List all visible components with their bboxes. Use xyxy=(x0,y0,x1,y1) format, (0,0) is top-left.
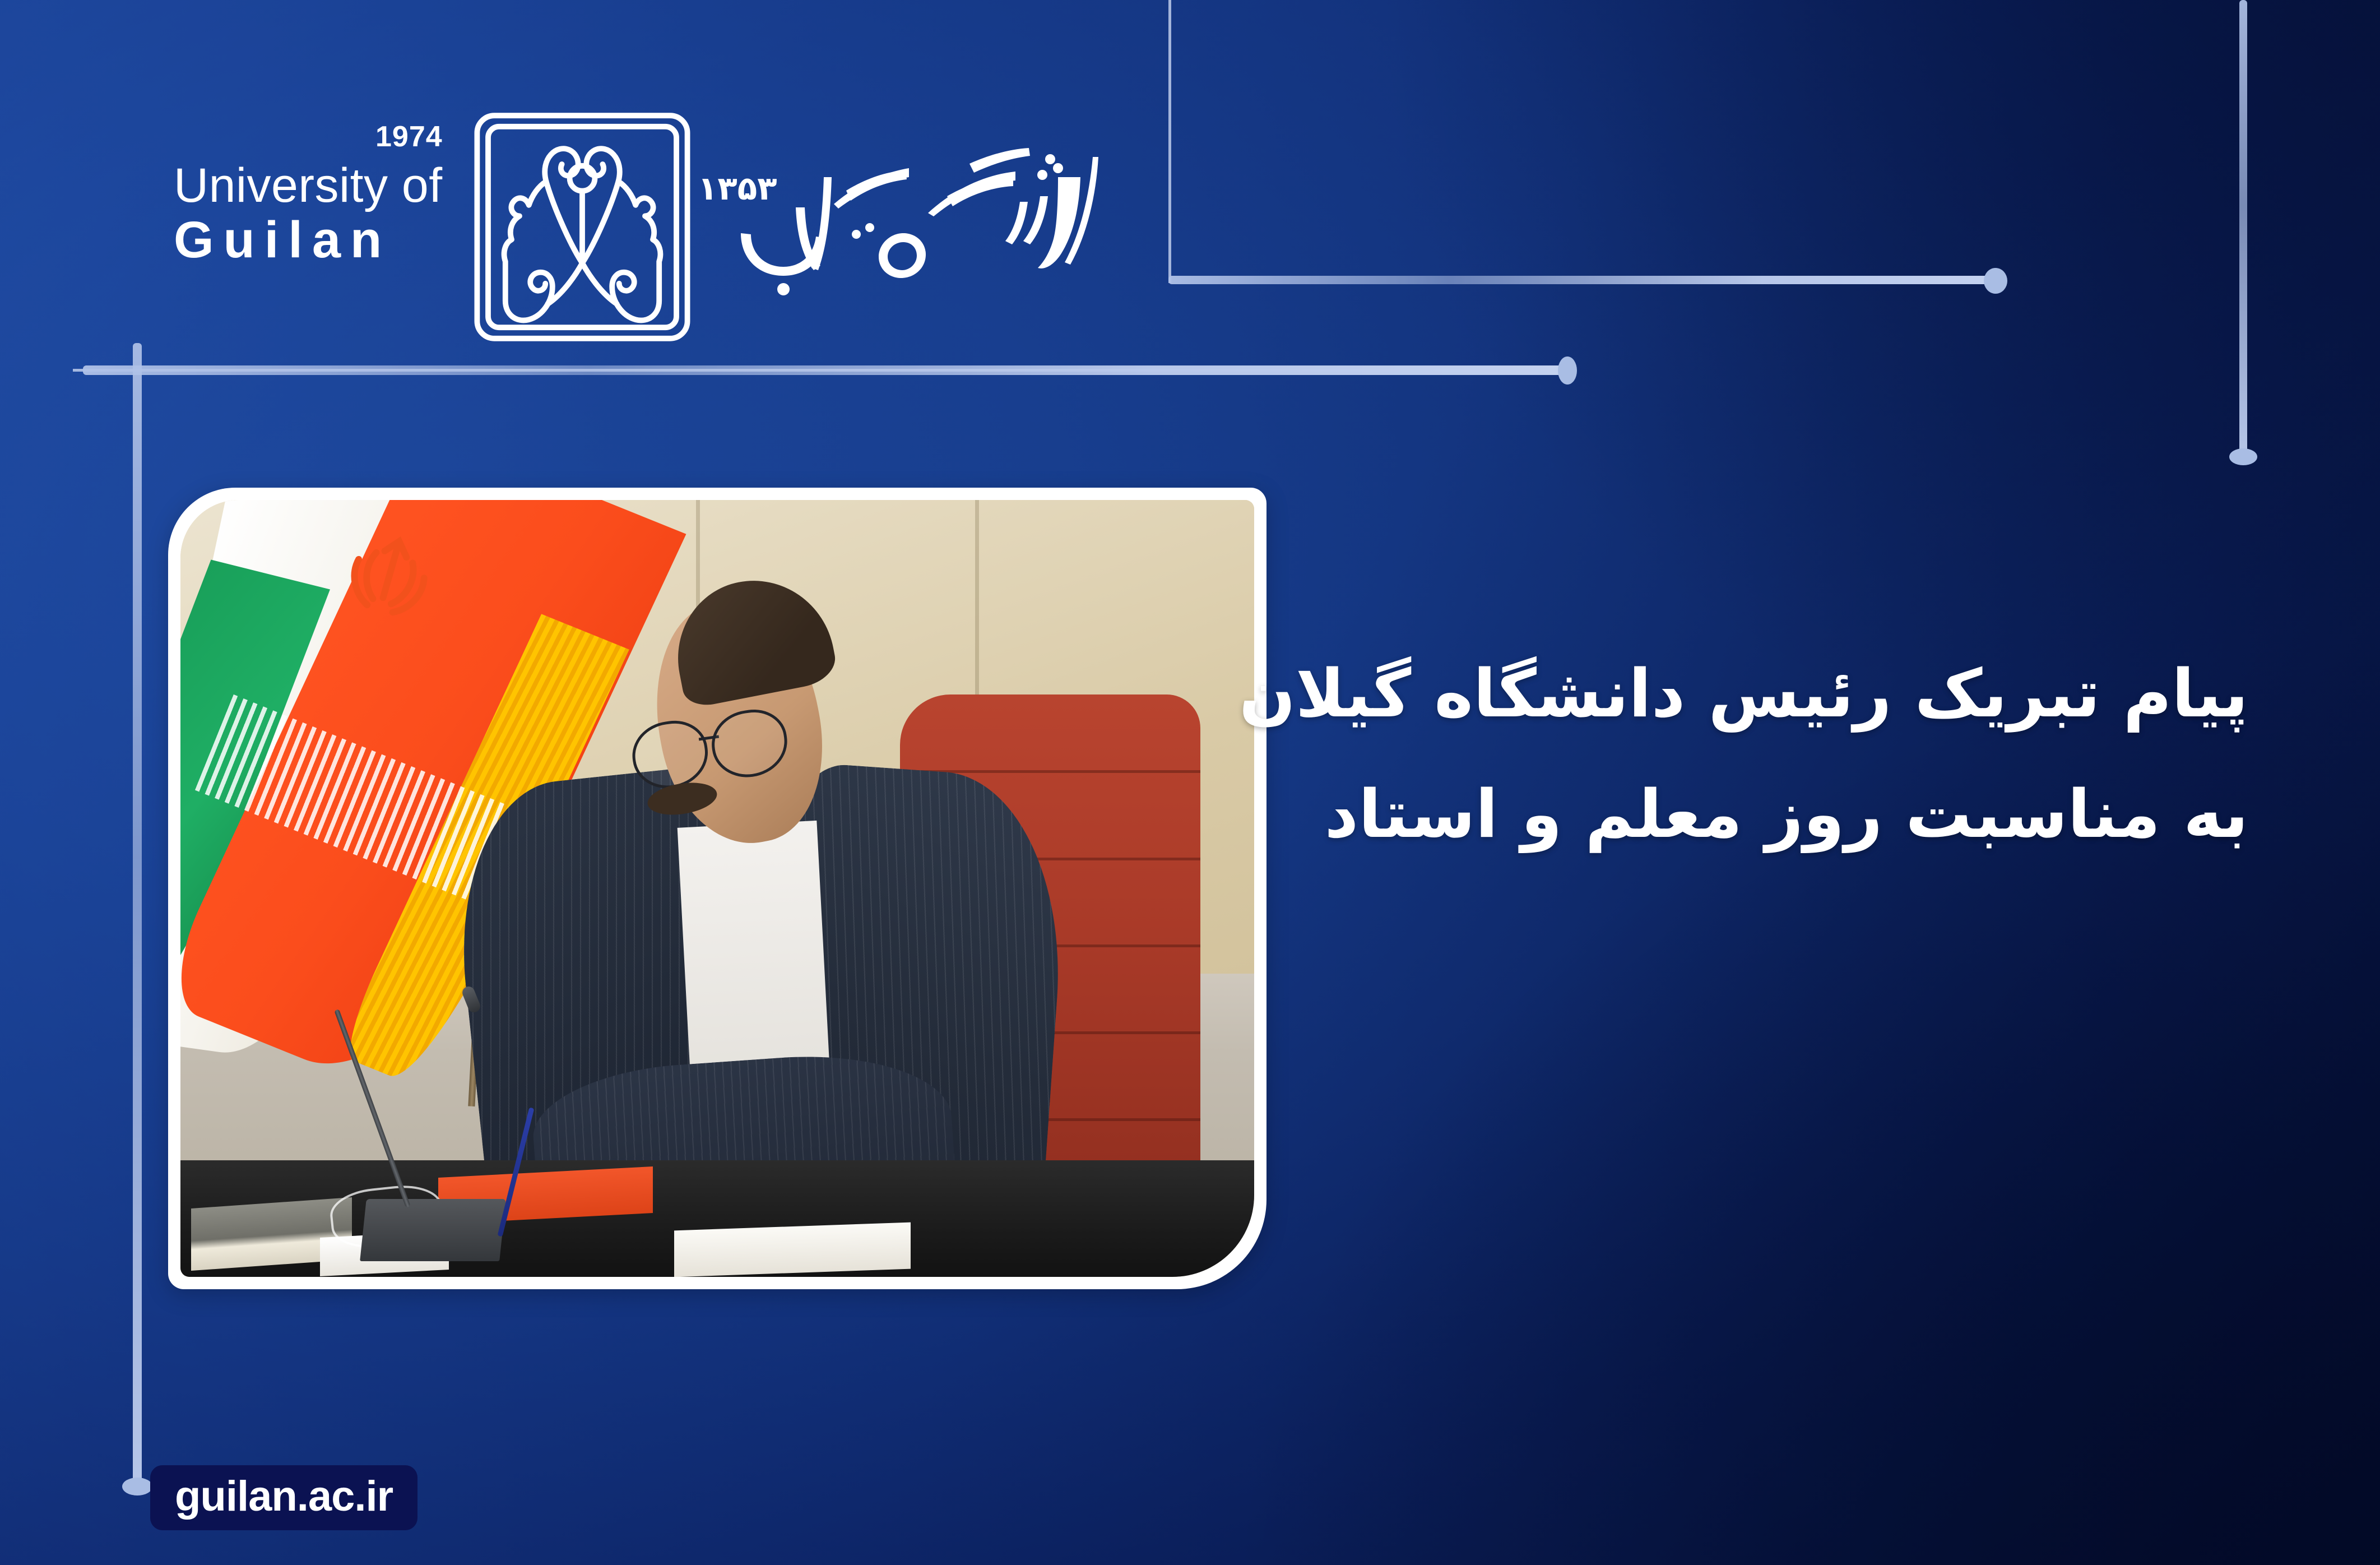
banner-canvas: University of Guilan 1974 xyxy=(0,0,2380,1565)
headline: پیام تبریک رئیس دانشگاه گیلان به مناسبت … xyxy=(1161,633,2248,874)
decor-vline-right xyxy=(2239,0,2247,457)
decor-hline-upper-left-thick xyxy=(83,365,1568,375)
logo-english-text: University of Guilan xyxy=(174,161,476,271)
logo-persian-wordmark-icon xyxy=(706,123,1098,348)
decor-dot-bottom-left xyxy=(122,1478,152,1495)
logo-lockup: University of Guilan 1974 xyxy=(168,118,1121,353)
president-photo-card xyxy=(168,488,1266,1289)
notepad xyxy=(674,1223,911,1277)
decor-dot-right xyxy=(2229,448,2257,465)
decor-dot-topright xyxy=(1984,268,2007,294)
logo-line-university-of: University of xyxy=(174,161,476,210)
logo-line-guilan: Guilan xyxy=(174,210,476,271)
headline-line-1: پیام تبریک رئیس دانشگاه گیلان xyxy=(1239,655,2248,732)
decor-dot-upper-left xyxy=(1558,356,1577,385)
photo-scene xyxy=(180,500,1254,1277)
guilan-university-emblem-icon xyxy=(462,109,703,345)
website-url-badge[interactable]: guilan.ac.ir xyxy=(150,1465,417,1530)
decor-vline-topright xyxy=(1168,0,1171,283)
decor-vline-left xyxy=(133,343,142,1487)
logo-year-gregorian: 1974 xyxy=(375,120,443,154)
president-photo xyxy=(180,500,1254,1277)
microphone-base xyxy=(360,1199,506,1261)
headline-line-2: به مناسبت روز معلم و استاد xyxy=(1161,754,2248,874)
decor-hline-topright xyxy=(1168,276,1992,284)
